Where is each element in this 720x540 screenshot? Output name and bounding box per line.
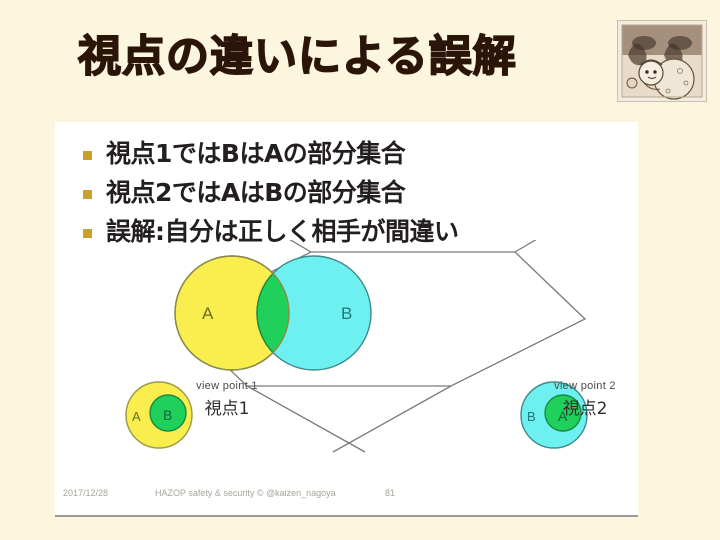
sepia-illustration-thumbnail <box>617 20 707 102</box>
viewpoint-right-label: view point 2 視点2 <box>525 380 638 419</box>
bullet-list: 視点1ではBはAの部分集合 視点2ではAはBの部分集合 誤解:自分は正しく相手が… <box>83 134 623 251</box>
small-venn-left-outer-label: A <box>132 409 141 424</box>
viewpoint-right-en: view point 2 <box>525 380 638 392</box>
slide-footer: 2017/12/28 HAZOP safety & security © @ka… <box>55 482 638 508</box>
bullet-label: 視点1ではBはAの部分集合 <box>106 139 405 169</box>
square-bullet-icon <box>83 229 92 238</box>
footer-date: 2017/12/28 <box>63 488 108 498</box>
perspective-line-upper-right <box>515 240 549 252</box>
perspective-line-upper-left <box>277 240 311 252</box>
content-panel: 視点1ではBはAの部分集合 視点2ではAはBの部分集合 誤解:自分は正しく相手が… <box>55 122 638 517</box>
illustration-svg <box>618 21 706 101</box>
square-bullet-icon <box>83 190 92 199</box>
slide: 視点の違いによる誤解 視点1では <box>0 0 720 540</box>
viewpoint-left-jp: 視点1 <box>167 394 287 419</box>
viewpoint-right-jp: 視点2 <box>525 394 638 419</box>
viewpoint-left-label: view point 1 視点1 <box>167 380 287 419</box>
venn-label-b: B <box>341 304 352 323</box>
venn-diagram-svg: A B A B B A <box>55 240 638 472</box>
square-bullet-icon <box>83 151 92 160</box>
perspective-line-lower-right <box>333 386 451 452</box>
viewpoint-left-en: view point 1 <box>167 380 287 392</box>
bullet-label: 視点2ではAはBの部分集合 <box>106 178 405 208</box>
list-item: 視点1ではBはAの部分集合 <box>83 134 623 173</box>
venn-diagram: A B A B B A view point 1 視点1 view point … <box>55 240 638 472</box>
footer-credit: HAZOP safety & security © @kaizen_nagoya <box>155 488 336 498</box>
footer-page-number: 81 <box>385 488 395 498</box>
list-item: 視点2ではAはBの部分集合 <box>83 173 623 212</box>
venn-label-a: A <box>202 304 214 323</box>
page-title: 視点の違いによる誤解 <box>78 26 578 88</box>
